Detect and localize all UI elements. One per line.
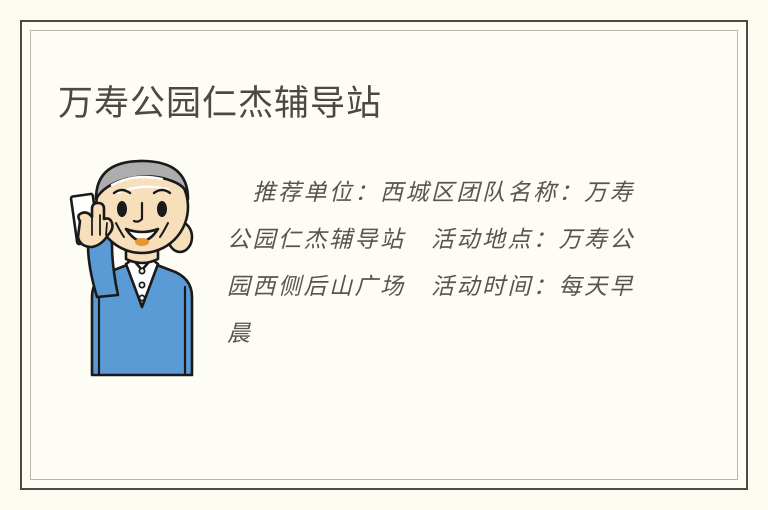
card-frame: 万寿公园仁杰辅导站 (20, 20, 748, 490)
page-title: 万寿公园仁杰辅导站 (58, 83, 382, 125)
finger-line-3 (106, 223, 107, 235)
activity-details-text: 推荐单位：西城区团队名称：万寿公园仁杰辅导站 活动地点：万寿公园西侧后山广场 活… (227, 170, 647, 358)
shirt-button-3 (139, 295, 144, 300)
elderly-man-on-phone-graphic (52, 137, 222, 377)
tongue-shape (135, 238, 149, 246)
shirt-button-2 (139, 282, 144, 287)
eye-right (157, 201, 167, 217)
eye-left (117, 201, 127, 217)
shirt-button-1 (139, 268, 144, 273)
elderly-man-illustration (52, 137, 222, 377)
